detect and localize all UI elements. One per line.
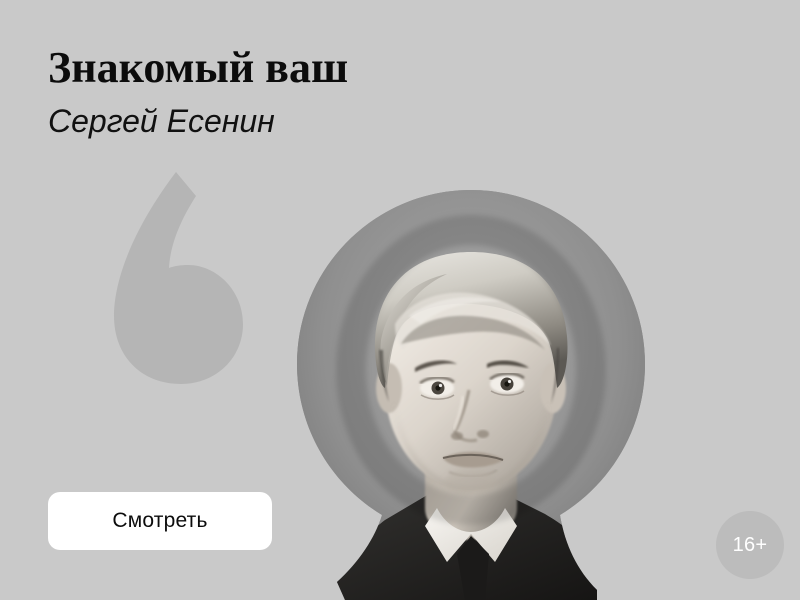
page-subtitle: Сергей Есенин	[48, 101, 275, 141]
opening-quote-mark-icon	[104, 168, 254, 388]
watch-button-label: Смотреть	[112, 509, 207, 533]
page-title: Знакомый ваш	[48, 43, 348, 93]
portrait-image	[297, 190, 645, 600]
watch-button[interactable]: Смотреть	[48, 492, 272, 550]
age-rating-badge: 16+	[716, 511, 784, 579]
age-rating-label: 16+	[733, 534, 768, 557]
promo-banner: Знакомый ваш Сергей Есенин Смотреть 16+	[0, 0, 800, 600]
